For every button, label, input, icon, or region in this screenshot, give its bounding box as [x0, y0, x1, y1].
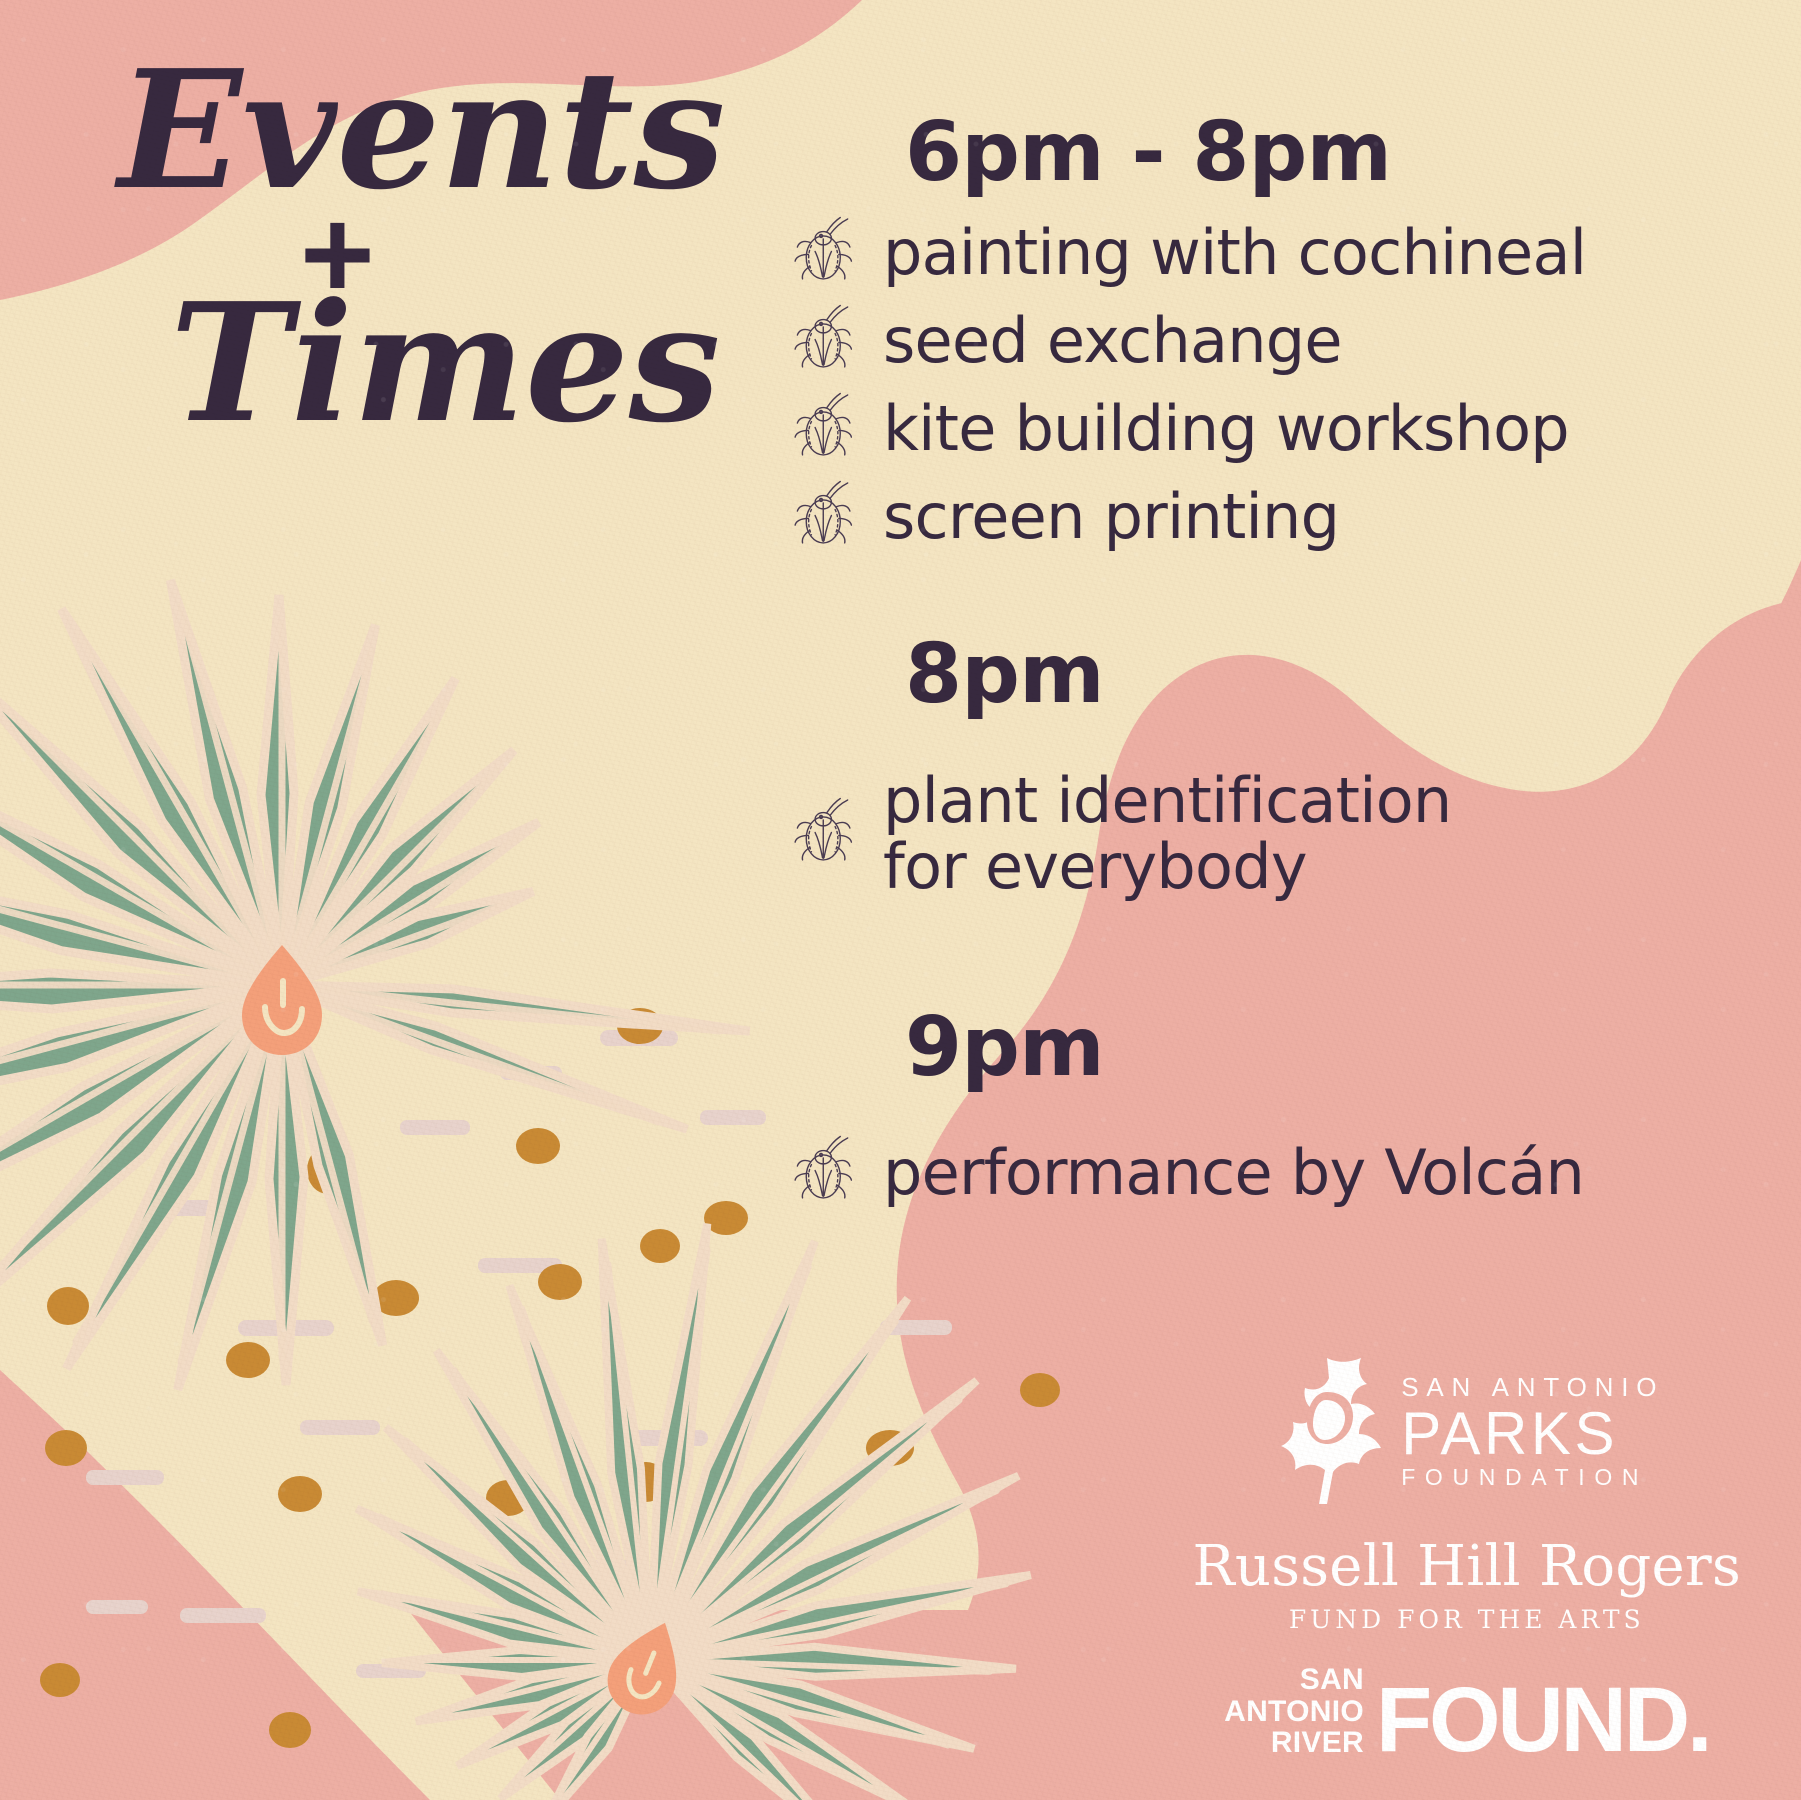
schedule-item: plant identification for everybody: [905, 768, 1735, 899]
beetle-icon: [787, 392, 861, 466]
beetle-icon: [787, 797, 861, 871]
time-heading-8pm: 8pm: [905, 634, 1735, 716]
schedule-item-label: performance by Volcán: [883, 1140, 1584, 1206]
beetle-icon: [787, 304, 861, 378]
parks-logo-line-2: PARKS: [1401, 1404, 1664, 1464]
schedule-item: seed exchange: [905, 304, 1735, 378]
schedule-item: performance by Volcán: [905, 1135, 1735, 1209]
schedule-list: 6pm - 8pm: [905, 112, 1735, 1209]
sponsor-logos: SAN ANTONIO PARKS FOUNDATION Russell Hil…: [1192, 1354, 1741, 1758]
river-logo-wordmark: FOUND.: [1376, 1684, 1709, 1758]
schedule-item-label: plant identification for everybody: [883, 768, 1451, 899]
logo-russell-hill-rogers: Russell Hill Rogers FUND FOR THE ARTS: [1192, 1539, 1741, 1634]
river-logo-line-3: RIVER: [1271, 1727, 1364, 1758]
schedule-item: painting with cochineal: [905, 216, 1735, 290]
poster-title: Events + Times: [118, 58, 738, 437]
schedule-item-label: painting with cochineal: [883, 220, 1586, 286]
beetle-icon: [787, 216, 861, 290]
title-line-1: Events: [118, 58, 738, 205]
schedule-item: kite building workshop: [905, 392, 1735, 466]
poster-canvas: Events + Times 6pm - 8pm: [0, 0, 1801, 1800]
logo-san-antonio-river-foundation: SAN ANTONIO RIVER FOUND.: [1224, 1664, 1709, 1758]
schedule-item-label: kite building workshop: [883, 396, 1569, 462]
parks-logo-line-1: SAN ANTONIO: [1401, 1374, 1664, 1400]
oak-leaf-icon: [1269, 1354, 1387, 1509]
title-line-2: Times: [170, 291, 738, 438]
time-heading-9pm: 9pm: [905, 1007, 1735, 1089]
river-logo-line-1: SAN: [1300, 1664, 1364, 1695]
parks-logo-line-3: FOUNDATION: [1401, 1466, 1664, 1489]
schedule-item-label: screen printing: [883, 484, 1339, 550]
logo-san-antonio-parks-foundation: SAN ANTONIO PARKS FOUNDATION: [1269, 1354, 1664, 1509]
rhr-logo-tagline: FUND FOR THE ARTS: [1289, 1605, 1645, 1634]
beetle-icon: [787, 1135, 861, 1209]
schedule-item-label: seed exchange: [883, 308, 1342, 374]
rhr-logo-name: Russell Hill Rogers: [1192, 1539, 1741, 1595]
beetle-icon: [787, 480, 861, 554]
river-logo-line-2: ANTONIO: [1224, 1696, 1364, 1727]
schedule-item: screen printing: [905, 480, 1735, 554]
time-heading-6pm: 6pm - 8pm: [905, 112, 1735, 194]
